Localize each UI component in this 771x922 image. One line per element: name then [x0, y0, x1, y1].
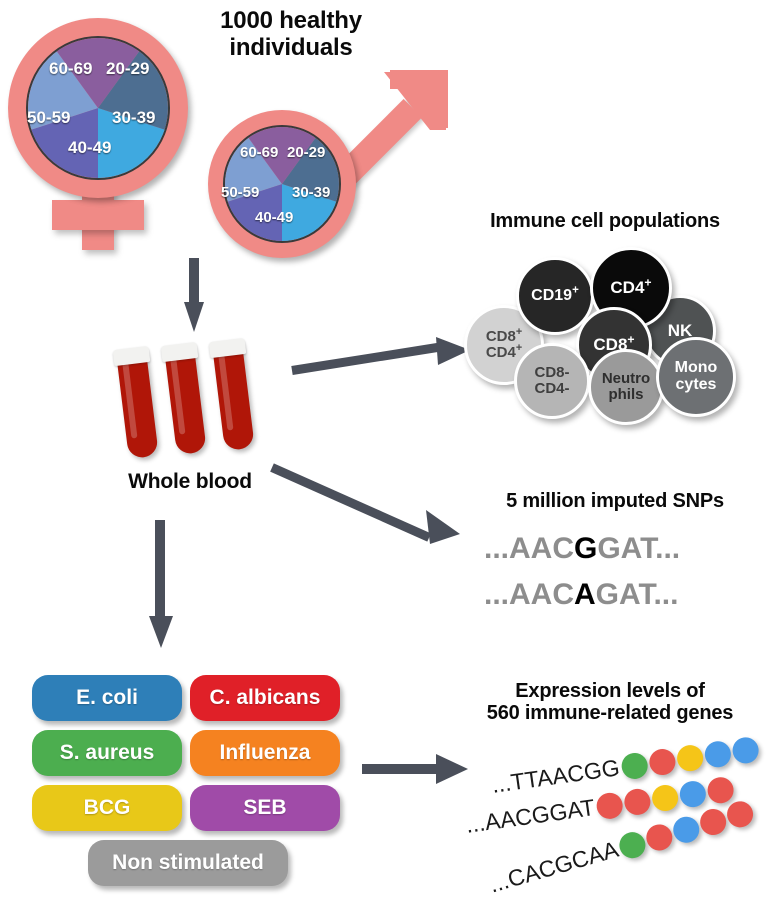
female-pie-label-40-49: 40-49	[68, 138, 111, 158]
stimulus-label: BCG	[84, 796, 131, 820]
rna-bead	[616, 829, 648, 861]
male-pie-label-40-49: 40-49	[255, 209, 293, 226]
rna-bead	[620, 751, 649, 780]
rna-bead	[647, 747, 676, 776]
cell-label: CD8+CD4+	[486, 329, 522, 361]
female-pie-label-20-29: 20-29	[106, 59, 149, 79]
arrow-shaft	[270, 463, 431, 541]
stimulus-pill-c-albicans[interactable]: C. albicans	[190, 675, 340, 721]
cell-label: Neutrophils	[602, 371, 650, 403]
female-symbol: 20-29 30-39 40-49 50-59 60-69	[8, 18, 188, 248]
arrow-head	[184, 302, 204, 332]
stimulus-label: Non stimulated	[112, 851, 264, 875]
stimulus-pill-influenza[interactable]: Influenza	[190, 730, 340, 776]
figure-canvas: 1000 healthy individuals 20-29 30-39 40-…	[0, 0, 771, 922]
arrow-head	[436, 754, 468, 784]
rna-bead	[703, 739, 732, 768]
stimulus-pill-non-stimulated[interactable]: Non stimulated	[88, 840, 288, 886]
expression-title: Expression levels of 560 immune-related …	[452, 680, 768, 725]
male-pie-label-50-59: 50-59	[221, 184, 259, 201]
rna-strands: ...TTAACGG ...AACGGAT ...CACGCAA	[470, 750, 770, 915]
female-crossbar	[52, 200, 144, 230]
arrow-blood-to-immune	[292, 330, 477, 380]
snp-sequences: ...AACGGAT... ...AACAGAT...	[484, 532, 754, 622]
snp-suffix: GAT...	[596, 578, 679, 611]
blood-tube	[212, 342, 255, 451]
blood-tube	[116, 350, 159, 459]
stimulus-label: SEB	[243, 796, 286, 820]
cell-label: CD4+	[610, 279, 651, 297]
female-pie-label-60-69: 60-69	[49, 59, 92, 79]
rna-bead	[678, 779, 707, 808]
snp-prefix: ...AAC	[484, 532, 574, 565]
snp-suffix: GAT...	[597, 532, 680, 565]
arrow-stimuli-to-expression	[362, 752, 472, 786]
snp-allele-row: ...AACGGAT...	[484, 532, 680, 566]
expression-title-line1: Expression levels of	[452, 680, 768, 702]
arrow-head	[149, 616, 173, 648]
arrow-cohort-to-blood	[184, 258, 204, 332]
cell-label: Monocytes	[675, 360, 718, 394]
arrow-shaft	[291, 342, 445, 375]
blood-tubes	[112, 340, 272, 460]
stimulus-label: S. aureus	[60, 741, 155, 765]
blood-tube	[164, 346, 207, 455]
snp-variant-nucleotide: A	[574, 578, 596, 611]
cell-label: CD8-CD4-	[534, 365, 569, 397]
arrow-shaft	[155, 520, 165, 620]
female-pie-label-30-39: 30-39	[112, 108, 155, 128]
arrow-shaft	[362, 764, 440, 774]
rna-bead	[595, 791, 624, 820]
snp-allele-row: ...AACAGAT...	[484, 578, 678, 612]
arrow-shaft	[189, 258, 199, 306]
stimulus-label: E. coli	[76, 686, 138, 710]
rna-sequence-text: ...CACGCAA	[486, 836, 621, 899]
arrow-blood-to-snp	[272, 455, 467, 560]
whole-blood-label: Whole blood	[80, 470, 300, 494]
arrow-blood-to-stimuli	[148, 520, 172, 648]
rna-bead	[670, 813, 702, 845]
stimulus-pill-seb[interactable]: SEB	[190, 785, 340, 831]
rna-bead	[724, 798, 756, 830]
snp-prefix: ...AAC	[484, 578, 574, 611]
snp-variant-nucleotide: G	[574, 532, 597, 565]
stimulus-pill-bcg[interactable]: BCG	[32, 785, 182, 831]
female-pie-label-50-59: 50-59	[27, 108, 70, 128]
snp-title: 5 million imputed SNPs	[470, 490, 760, 512]
rna-bead	[730, 735, 759, 764]
rna-bead	[650, 783, 679, 812]
male-symbol: 20-29 30-39 40-49 50-59 60-69	[208, 78, 438, 258]
cell-neutrophils: Neutrophils	[588, 349, 664, 425]
male-pie-label-30-39: 30-39	[292, 184, 330, 201]
stimulus-pill-s-aureus[interactable]: S. aureus	[32, 730, 182, 776]
rna-bead	[697, 805, 729, 837]
rna-bead	[643, 821, 675, 853]
rna-bead	[675, 743, 704, 772]
stimuli-panel: E. coli C. albicans S. aureus Influenza …	[30, 675, 350, 900]
male-pie-label-60-69: 60-69	[240, 144, 278, 161]
cell-monocytes: Monocytes	[656, 337, 736, 417]
rna-bead	[623, 787, 652, 816]
arrow-head	[424, 510, 462, 548]
stimulus-label: C. albicans	[210, 686, 321, 710]
cohort-title: 1000 healthy individuals	[176, 8, 406, 62]
rna-bead	[706, 775, 735, 804]
immune-cell-cluster: CD8+CD4+ NK CD19+ CD4+ CD8+ CD8-CD4- Neu…	[458, 245, 758, 410]
rna-sequence-text: ...AACGGAT	[464, 794, 596, 839]
stimulus-label: Influenza	[219, 741, 310, 765]
male-arrowhead	[360, 68, 450, 160]
male-pie-label-20-29: 20-29	[287, 144, 325, 161]
cell-cd8neg-cd4neg: CD8-CD4-	[514, 343, 590, 419]
stimulus-pill-e-coli[interactable]: E. coli	[32, 675, 182, 721]
expression-title-line2: 560 immune-related genes	[452, 702, 768, 724]
immune-cell-title: Immune cell populations	[450, 210, 760, 232]
cell-label: CD19+	[531, 288, 579, 305]
